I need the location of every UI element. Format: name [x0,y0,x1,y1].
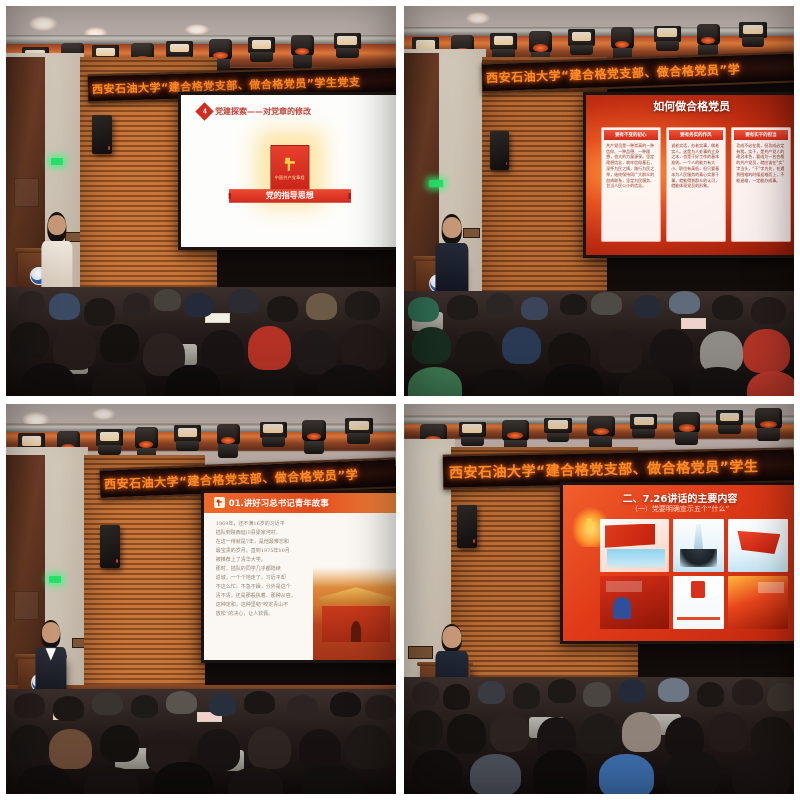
wall-speaker-icon [490,131,510,170]
audience-head [248,326,291,370]
door-panel [14,591,39,620]
slide-body-line: 这种定和，这种坚韧“咬定青山不 [216,602,329,610]
slide-column: 要有实干的担当 功成不必在我，但功成必定有我。实干，是共产党人的政治本色，要成为… [731,127,790,242]
audience-head [100,324,139,363]
banner-text: 西安石油大学“建合格党支部、做合格党员”学 [482,60,741,86]
stage-lamp [334,33,361,49]
slide-body-line: 不这么忙，不急不躁，分外是这个 [216,584,329,592]
slide-columns: 要有不变的初心 共产党员是一种崇高的一种信仰、一种品德、一种理想，也大的力量源泉… [601,127,791,242]
audience-head [533,750,588,794]
stage-lamp [697,24,720,46]
audience-head [18,291,45,315]
slide-title-row: 4 党建探索——对党章的修改 [198,105,311,118]
stage-lamp [302,420,325,442]
audience-head [92,368,147,396]
slide-picture-grid [600,519,787,628]
audience-head [330,692,361,717]
panel-bottom-right: 西安石油大学“建合格党支部、做合格党员”学生 二、7.26讲话的主要内容 （一）… [404,404,794,794]
stage-lamp [135,427,158,449]
audience-head [154,762,213,794]
projection-screen: 二、7.26讲话的主要内容 （一）党要明确宣示五个“什么” [560,482,794,644]
audience-head [84,767,139,794]
stage-lamp [166,41,193,57]
stage-lamp [673,412,700,433]
photo-collage: 西安石油大学“建合格党支部、做合格党员”学生党支 4 党建探索——对党章的修改 … [0,0,800,800]
column-header: 要有实干的担当 [734,130,787,140]
audience-head [318,365,377,396]
slide-title: 01.讲好习总书记青年故事 [229,497,329,509]
slide-content: 01.讲好习总书记青年故事 1969年，还不满16岁的习近平 插队到陕西延川县梁… [204,493,396,661]
wall-plate [408,646,433,660]
book-caption: 中国共产党章程 [275,175,305,181]
audience-head [408,710,443,747]
slide-header: 01.讲好习总书记青年故事 [204,493,396,513]
audience-head [732,679,763,705]
audience-head [751,717,794,759]
slide-body-line: 返城，一个个地走了，习近平却 [216,575,329,583]
audience-head [166,691,197,714]
head [42,622,60,643]
audience-head [197,729,240,771]
audience-head [412,750,463,794]
audience-head [131,695,158,718]
stage-lamp [630,414,657,430]
slide-body-line: 那时，插队的同学几乎都陆续 [216,566,329,574]
audience-head [599,754,654,794]
column-body-text: 共产党员是一种崇高的一种信仰、一种品德、一种理想，也大的力量源泉。坚定理想信念，… [606,143,655,189]
door-panel [14,178,39,207]
head [48,215,66,236]
audience-head [486,293,513,316]
projection-screen: 01.讲好习总书记青年故事 1969年，还不满16岁的习近平 插队到陕西延川县梁… [201,490,396,664]
exit-sign-icon [49,576,61,583]
slide-body-line: 清不清，还是那般执着、那种从容， [216,593,329,601]
exit-sign-icon [51,158,63,165]
audience-head [412,682,439,705]
audience-head [22,363,77,396]
slide-title: 党建探索——对党章的修改 [215,106,311,117]
audience-head [408,367,463,396]
audience-head [306,293,337,319]
slide-title: 如何做合格党员 [586,98,794,114]
audience-head [665,750,720,794]
audience-head [743,329,790,373]
slide-marker-number: 4 [203,108,207,115]
audience-head [18,765,73,794]
slide-body-line: 最宝贵的岁月。直到1975年10月 [216,548,329,556]
audience-head [502,327,541,365]
audience-head [244,691,275,714]
audience-head [49,293,80,319]
stage-lamp [174,425,201,441]
slide-title: 二、7.26讲话的主要内容 [563,490,794,505]
audience-head [658,678,689,701]
emblem-glyph [584,517,600,535]
slide-body-line: 被推荐上了清华大学。 [216,557,329,565]
gate-arch [351,621,361,642]
audience-head [490,712,529,752]
audience-head [92,692,123,715]
tiananmen-photo [313,567,396,661]
panel-top-left: 西安石油大学“建合格党支部、做合格党员”学生党支 4 党建探索——对党章的修改 … [6,6,396,396]
audience-head [478,681,505,704]
ceiling-downlight [185,24,208,36]
audience-head [697,682,724,708]
audience [6,689,396,794]
audience-head [712,295,743,320]
audience-head [513,683,540,709]
audience-head [622,712,661,752]
ceiling-downlight [29,16,56,32]
audience-head [474,369,529,396]
stage-lamp [544,418,571,434]
stage-lamp [529,31,552,53]
column-header: 要有务实的作风 [669,130,722,140]
audience-head [302,765,361,794]
stage-lamp [568,29,595,45]
audience-head [443,684,470,710]
audience-head [345,725,392,769]
party-emblem-icon [282,157,297,173]
audience-head [412,327,451,365]
projection-screen: 如何做合格党员 要有不变的初心 共产党员是一种崇高的一种信仰、一种品德、一种理想… [583,92,794,258]
audience-head [10,322,49,359]
audience-head [408,297,439,322]
slide-content: 4 党建探索——对党章的修改 中国共产党章程 党的指导思想 [181,95,396,247]
audience-head [365,695,396,720]
slide-body-line: 插队到陕西延川县梁家河村， [216,530,329,538]
audience-head [14,693,45,718]
panel-top-right: 西安石油大学“建合格党支部、做合格党员”学 如何做合格党员 要有不变的初心 共产… [404,6,794,396]
audience-head [53,696,84,721]
slide-body-line: 1969年，还不满16岁的习近平 [216,521,329,529]
audience-head [650,329,693,371]
audience-head [751,297,786,324]
audience-head [583,682,610,708]
audience-head [560,294,587,315]
stage-lamp [755,408,782,429]
audience-head [634,295,661,318]
ceiling-downlight [92,408,115,420]
stage-lamp [654,26,681,42]
audience-head [287,695,318,720]
wall-speaker-icon [100,525,120,568]
slide-marker-icon: 4 [195,103,213,121]
audience-head [447,714,486,754]
wall-speaker-icon [92,115,112,154]
audience-head [154,289,181,311]
slide-body-line: 放松”的决心，让人钦佩。 [216,611,329,619]
audience-head [689,367,748,396]
head [442,626,461,648]
slide-picture [600,519,669,572]
audience-head [591,292,622,315]
audience-head [248,727,291,769]
slide-ribbon-label: 党的指导思想 [229,189,351,203]
audience [404,677,794,794]
slide-column: 要有不变的初心 共产党员是一种崇高的一种信仰、一种品德、一种理想，也大的力量源泉… [601,127,660,242]
slide-content: 如何做合格党员 要有不变的初心 共产党员是一种崇高的一种信仰、一种品德、一种理想… [586,95,794,255]
audience-head [544,364,603,396]
audience-head [599,331,642,373]
speaker-person [435,217,468,299]
wall-speaker-icon [457,505,477,548]
stage-lamp [217,424,240,446]
audience-head [209,693,236,716]
slide-picture [728,576,788,629]
audience-head [447,295,478,320]
audience-head [84,298,115,326]
audience-head [100,725,139,763]
audience-head [747,371,794,396]
audience-head [732,754,791,794]
audience-head [267,296,298,322]
slide-body-line: 在这一待就是7年，是他最难忘和 [216,539,329,547]
desk-card [681,318,706,328]
audience [6,287,396,396]
emblem-glyph [215,499,223,507]
stage-lamp [291,35,314,56]
party-emblem-icon [214,497,225,508]
slide-picture [673,519,724,572]
slide-picture [728,519,788,572]
audience-head [767,683,794,711]
banner-text: 西安石油大学“建合格党支部、做合格党员”学 [99,465,358,492]
audience-head [580,714,619,754]
stage-lamp [248,37,275,53]
audience-head [185,293,212,317]
party-constitution-book: 中国共产党章程 [270,145,309,193]
audience-head [470,754,521,794]
gate-roof [318,587,394,604]
exit-sign-icon [429,180,442,187]
column-body-text: 说老实话，办老实事，做老实人。这是为人处事的立身之本，也是干好工作的基本准则。一… [671,143,720,189]
audience-head [619,679,646,702]
stage-lamp [502,420,529,441]
stage-lamp [611,27,634,49]
audience-head [345,291,380,319]
audience-head [123,293,150,317]
panel-bottom-left: 西安石油大学“建合格党支部、做合格党员”学 01.讲好习总书记青年故事 1969… [6,404,396,794]
column-body: 说老实话，办老实事，做老实人。这是为人处事的立身之本，也是干好工作的基本准则。一… [669,140,722,192]
head [442,217,461,239]
column-header: 要有不变的初心 [604,130,657,140]
stage-lamp [739,22,766,38]
audience-head [228,289,259,313]
audience [404,291,794,396]
stage-lamp [459,422,486,438]
stage-lamp [96,429,123,445]
column-body: 共产党员是一种崇高的一种信仰、一种品德、一种理想，也大的力量源泉。坚定理想信念，… [604,140,657,192]
column-body-text: 功成不必在我，但功成必定有我。实干，是共产党人的政治本色，要成为一名合格的共产党… [736,143,785,184]
audience-head [455,331,498,371]
audience-head [341,324,388,370]
stage-lamp [587,416,614,437]
audience-head [240,370,295,396]
speaker-person [41,215,72,297]
audience-head [548,679,575,702]
stage-lamp [490,33,517,49]
audience-head [708,712,747,752]
stage-lamp [716,410,743,426]
column-body: 功成不必在我，但功成必定有我。实干，是共产党人的政治本色，要成为一名合格的共产党… [734,140,787,187]
audience-head [49,729,92,769]
audience-head [228,767,283,794]
slide-picture [600,576,669,629]
audience-head [521,297,548,320]
stage-lamp [345,418,372,434]
slide-column: 要有务实的作风 说老实话，办老实事，做老实人。这是为人处事的立身之本，也是干好工… [666,127,725,242]
ceiling-downlight [466,12,489,24]
banner-text: 西安石油大学“建合格党支部、做合格党员”学生 [443,455,759,482]
slide-subtitle: （一）党要明确宣示五个“什么” [563,504,794,514]
audience-head [669,291,700,314]
slide-body: 1969年，还不满16岁的习近平 插队到陕西延川县梁家河村， 在这一待就是7年，… [216,521,329,620]
audience-head [10,725,49,763]
projection-screen: 4 党建探索——对党章的修改 中国共产党章程 党的指导思想 [178,92,396,250]
slide-content: 二、7.26讲话的主要内容 （一）党要明确宣示五个“什么” [563,485,794,641]
stage-lamp [260,422,287,438]
slide-picture [673,576,724,629]
